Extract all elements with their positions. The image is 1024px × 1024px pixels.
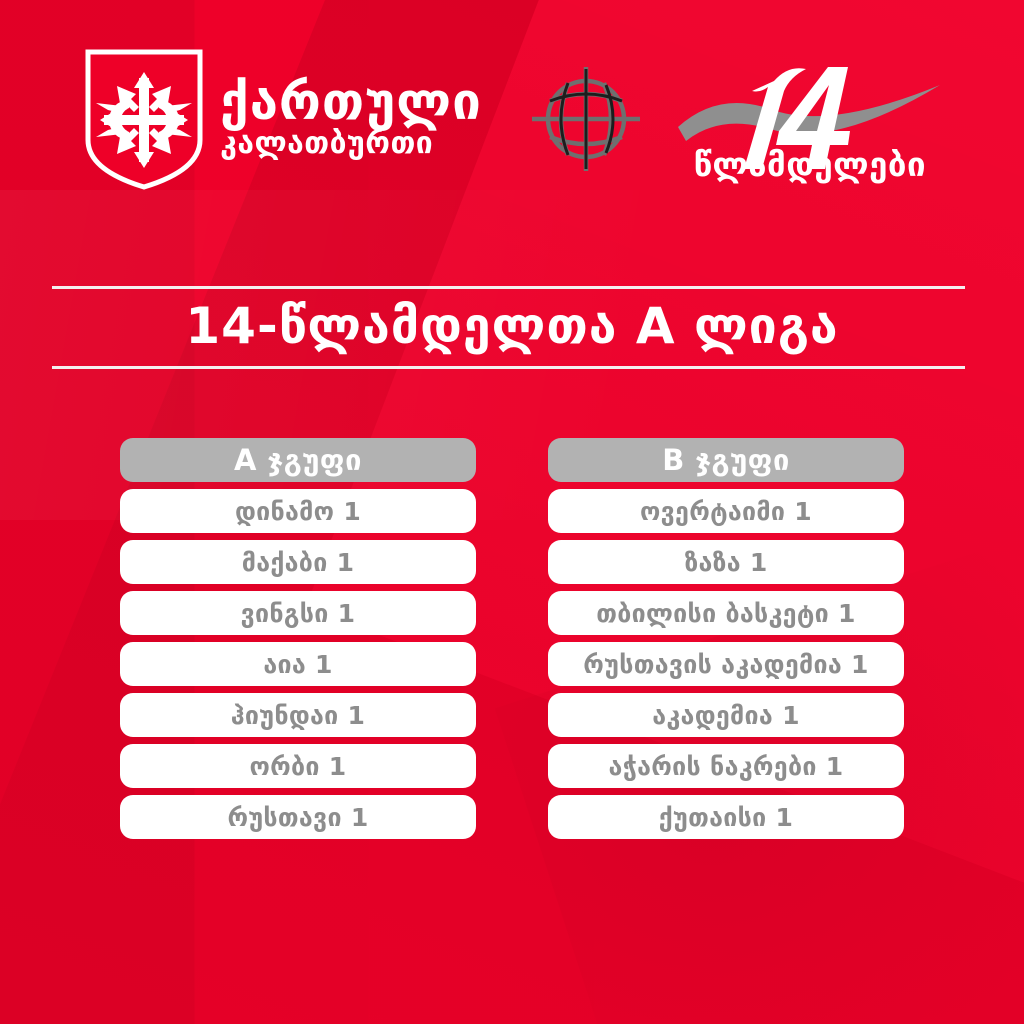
team-row[interactable]: თბილისი ბასკეტი 1	[548, 591, 904, 635]
anniversary-14-logo: წლამდელები	[678, 57, 940, 182]
anniversary-word: წლამდელები	[672, 145, 948, 184]
group-a-header: A ჯგუფი	[120, 438, 476, 482]
league-groups-poster: ქართული კალათბურთი	[0, 0, 1024, 1024]
federation-logo: ქართული კალათბურთი	[84, 48, 482, 191]
team-row[interactable]: აია 1	[120, 642, 476, 686]
team-row[interactable]: ზაზა 1	[548, 540, 904, 584]
group-a-column: A ჯგუფი დინამო 1 მაქაბი 1 ვინგსი 1 აია 1…	[120, 438, 476, 839]
team-row[interactable]: აკადემია 1	[548, 693, 904, 737]
federation-wordmark: ქართული კალათბურთი	[220, 79, 482, 158]
title-rule-top	[52, 286, 965, 289]
title-rule-bottom	[52, 366, 965, 369]
team-row[interactable]: ორბი 1	[120, 744, 476, 788]
team-row[interactable]: ოვერტაიმი 1	[548, 489, 904, 533]
page-title: 14-წლამდელთა A ლიგა	[0, 294, 1024, 358]
team-row[interactable]: აჭარის ნაკრები 1	[548, 744, 904, 788]
poster-header: ქართული კალათბურთი	[0, 44, 1024, 194]
team-row[interactable]: მაქაბი 1	[120, 540, 476, 584]
group-b-column: B ჯგუფი ოვერტაიმი 1 ზაზა 1 თბილისი ბასკე…	[548, 438, 904, 839]
federation-name-line1: ქართული	[220, 79, 482, 127]
team-row[interactable]: რუსთავის აკადემია 1	[548, 642, 904, 686]
team-row[interactable]: რუსთავი 1	[120, 795, 476, 839]
group-b-header: B ჯგუფი	[548, 438, 904, 482]
basketball-crosshair-icon	[530, 63, 642, 175]
federation-name-line2: კალათბურთი	[220, 130, 482, 158]
team-row[interactable]: ქუთაისი 1	[548, 795, 904, 839]
team-row[interactable]: დინამო 1	[120, 489, 476, 533]
team-row[interactable]: ჰიუნდაი 1	[120, 693, 476, 737]
team-row[interactable]: ვინგსი 1	[120, 591, 476, 635]
group-columns: A ჯგუფი დინამო 1 მაქაბი 1 ვინგსი 1 აია 1…	[0, 438, 1024, 839]
federation-shield-emblem-icon	[84, 48, 204, 191]
